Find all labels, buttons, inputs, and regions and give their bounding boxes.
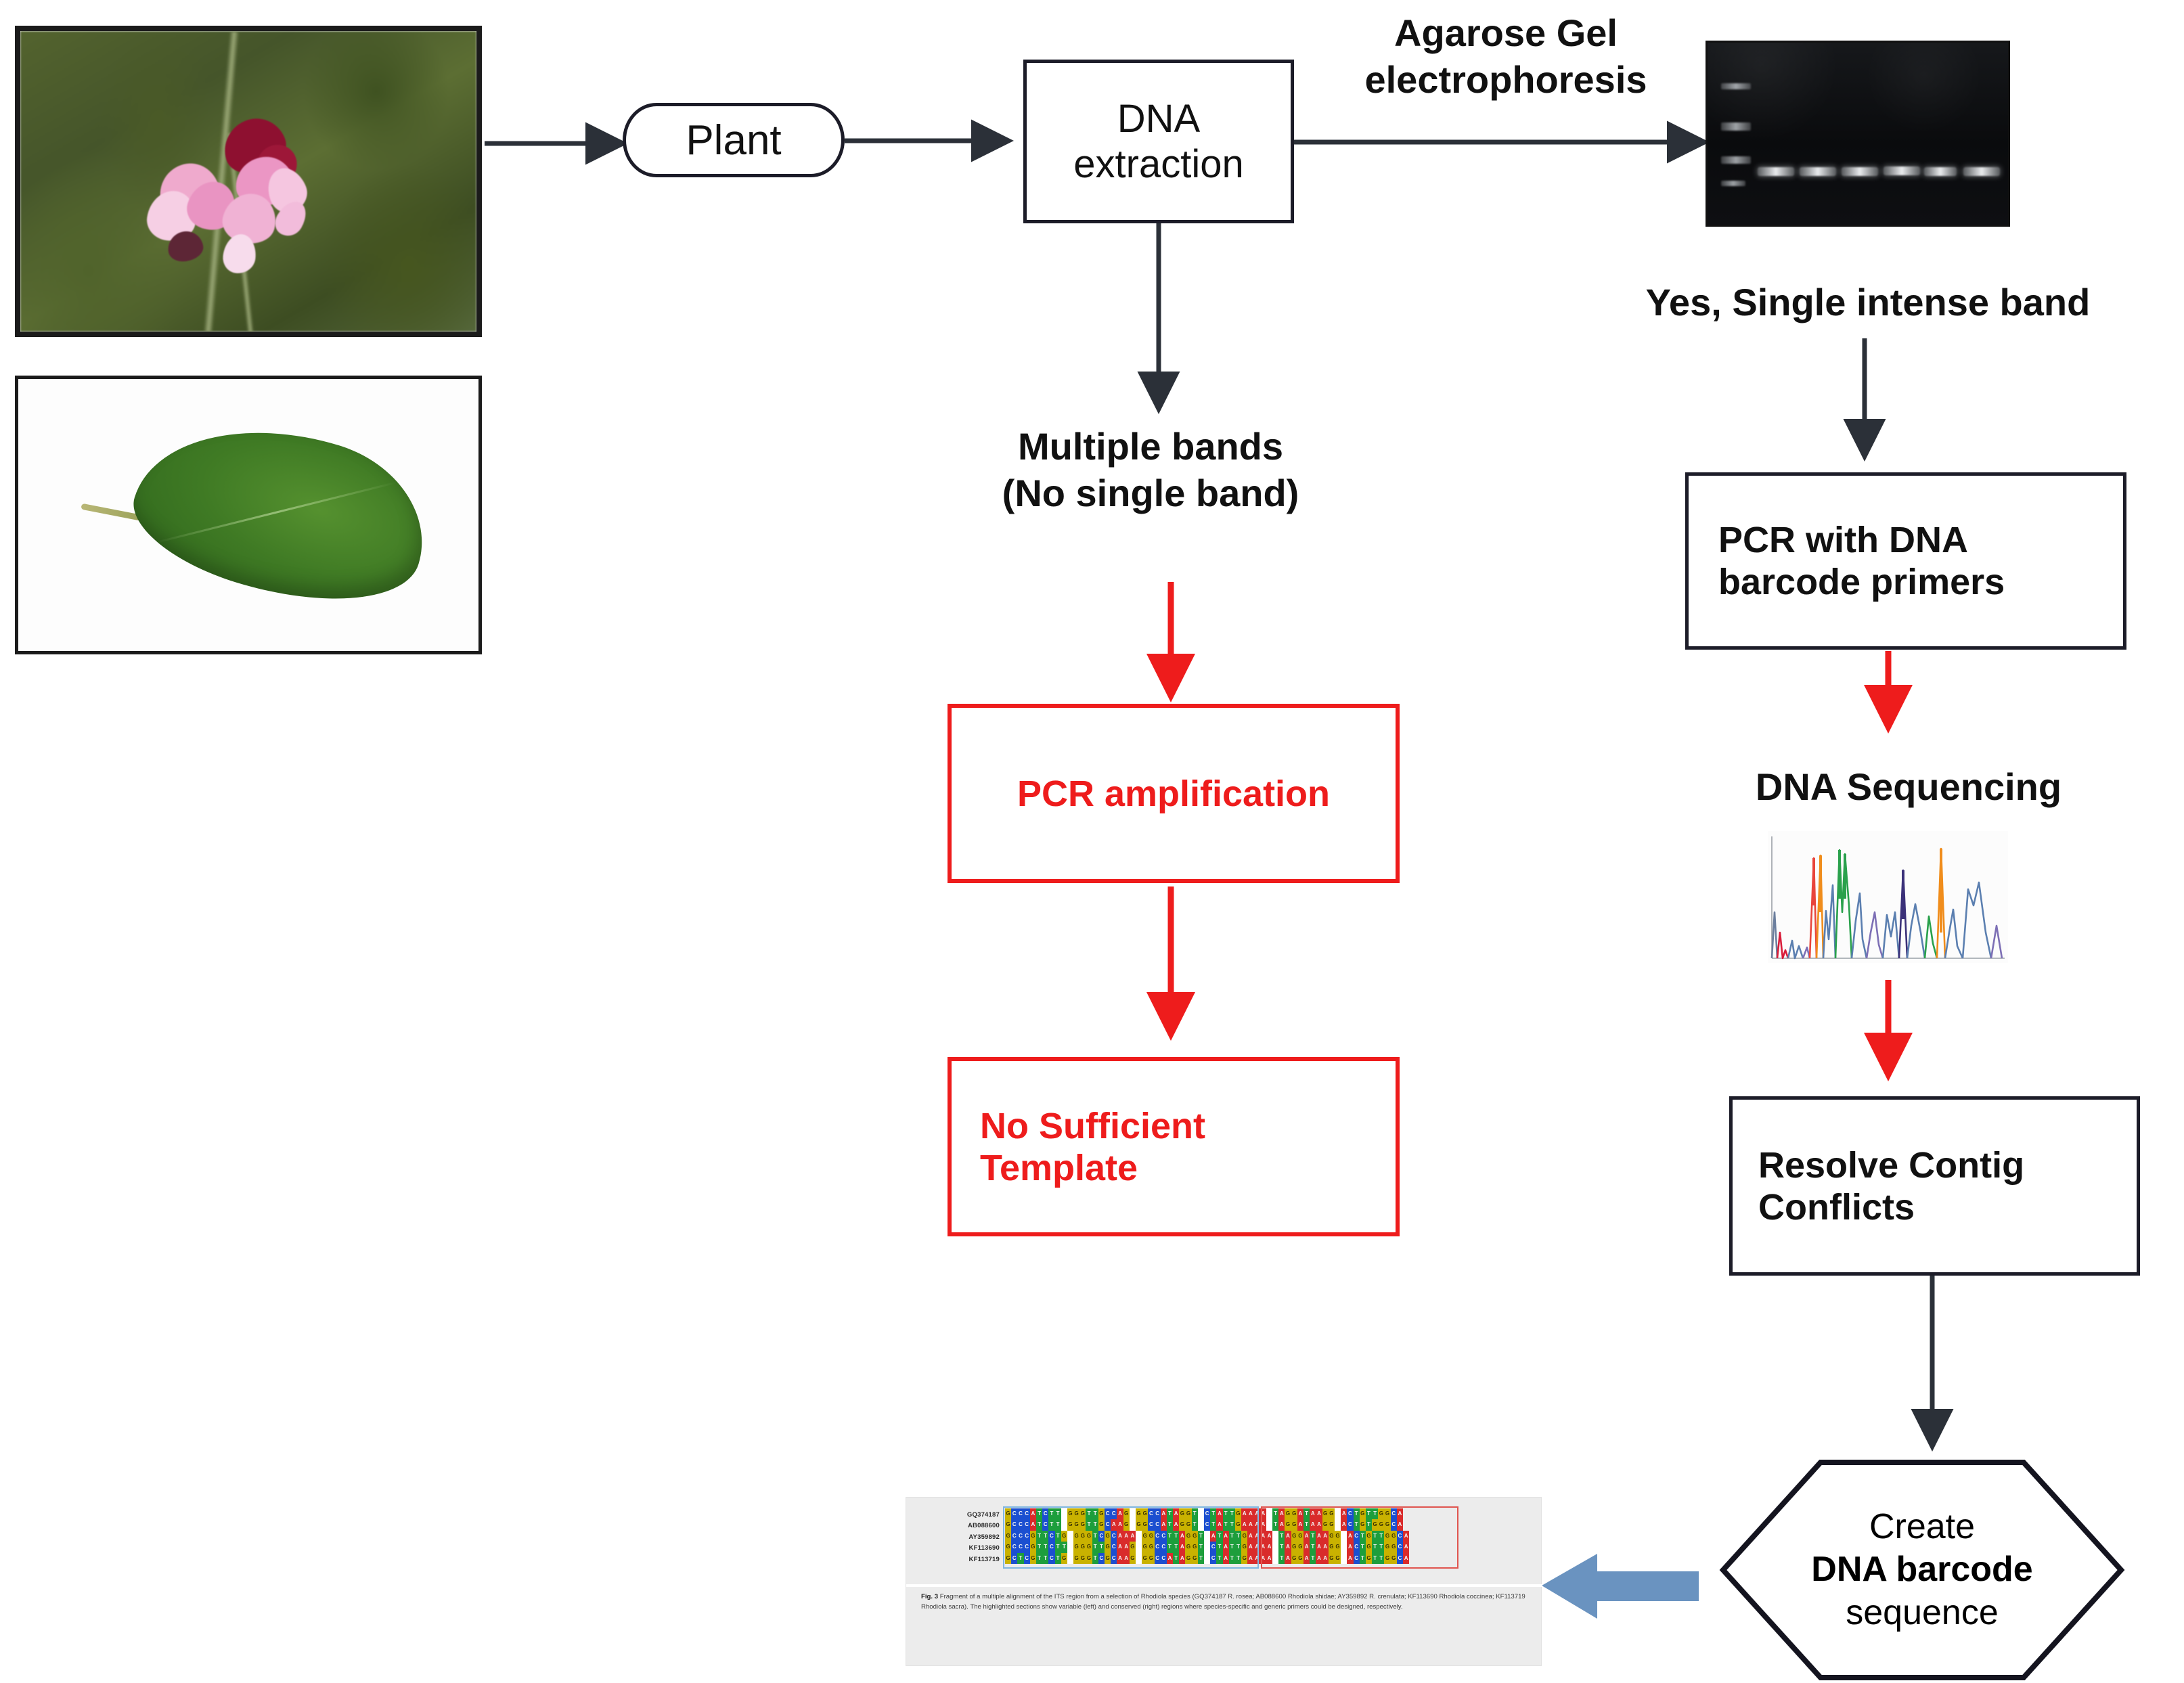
alignment-base-g: G [1366, 1542, 1372, 1552]
alignment-base-gap [1061, 1519, 1067, 1530]
alignment-base-g: G [1148, 1542, 1154, 1552]
alignment-base-g: G [1130, 1542, 1136, 1552]
alignment-base-g: G [1366, 1531, 1372, 1542]
alignment-base-a: A [1266, 1542, 1272, 1552]
alignment-base-t: T [1092, 1542, 1098, 1552]
alignment-base-g: G [1030, 1542, 1036, 1552]
alignment-caption-bold: Fig. 3 [921, 1593, 938, 1600]
alignment-base-g: G [1142, 1542, 1148, 1552]
alignment-row: GCCCGTTCTTGGGTTGCAAGGGCCTTAGGTCTATTGAAAA… [1005, 1542, 1409, 1552]
alignment-base-g: G [1335, 1542, 1341, 1552]
alignment-base-t: T [1055, 1553, 1061, 1564]
alignment-caption-text: Fragment of a multiple alignment of the … [921, 1593, 1525, 1611]
alignment-base-a: A [1241, 1519, 1247, 1530]
alignment-base-g: G [1179, 1519, 1185, 1530]
alignment-base-g: G [1130, 1553, 1136, 1564]
alignment-accession-0: GQ374187 [925, 1510, 1000, 1521]
alignment-base-t: T [1303, 1519, 1310, 1530]
alignment-base-gap [1130, 1508, 1136, 1519]
alignment-base-c: C [1161, 1531, 1167, 1542]
alignment-base-g: G [1335, 1553, 1341, 1564]
alignment-base-a: A [1117, 1531, 1123, 1542]
alignment-base-a: A [1316, 1542, 1322, 1552]
alignment-row: GCCCGTTCTGGGGTCGCAAAGGCCTTAGGTATATTGAAAA… [1005, 1531, 1409, 1542]
gel-ladder-band-3 [1721, 156, 1751, 164]
alignment-base-c: C [1148, 1508, 1154, 1519]
alignment-base-t: T [1216, 1553, 1222, 1564]
alignment-base-t: T [1272, 1519, 1278, 1530]
alignment-row: GCCCATCTTGGGTTGCAAGGGCCATAGGTCTATTGAAAAT… [1005, 1519, 1409, 1530]
alignment-base-t: T [1278, 1542, 1285, 1552]
alignment-base-gap [1067, 1553, 1073, 1564]
alignment-figure: GQ374187 AB088600 AY359892 KF113690 KF11… [906, 1497, 1542, 1666]
alignment-base-a: A [1179, 1531, 1185, 1542]
alignment-base-c: C [1024, 1531, 1030, 1542]
plant-leaf-photo [15, 376, 482, 654]
alignment-base-g: G [1241, 1542, 1247, 1552]
alignment-base-c: C [1011, 1531, 1017, 1542]
alignment-base-g: G [1073, 1531, 1079, 1542]
node-dna-extraction-line1: DNA [1117, 96, 1200, 141]
alignment-row: GCCCATCTTGGGTTGCCAGGGCCATAGGTCTATTGAAAAT… [1005, 1508, 1409, 1519]
alignment-base-c: C [1024, 1508, 1030, 1519]
alignment-base-a: A [1403, 1542, 1409, 1552]
alignment-base-g: G [1079, 1519, 1086, 1530]
alignment-base-g: G [1335, 1531, 1341, 1542]
node-pcr-amplification[interactable]: PCR amplification [948, 704, 1400, 883]
alignment-base-g: G [1136, 1519, 1142, 1530]
alignment-base-t: T [1198, 1542, 1204, 1552]
alignment-base-c: C [1105, 1519, 1111, 1530]
alignment-base-c: C [1397, 1553, 1403, 1564]
alignment-base-g: G [1067, 1508, 1073, 1519]
arrow-resolve-to-create-barcode [1919, 1276, 1946, 1462]
alignment-base-c: C [1111, 1531, 1117, 1542]
alignment-base-g: G [1105, 1553, 1111, 1564]
alignment-base-g: G [1185, 1508, 1191, 1519]
alignment-base-g: G [1005, 1519, 1011, 1530]
alignment-base-g: G [1192, 1542, 1198, 1552]
alignment-base-a: A [1260, 1519, 1266, 1530]
alignment-base-g: G [1067, 1519, 1073, 1530]
alignment-base-t: T [1036, 1542, 1042, 1552]
alignment-base-g: G [1061, 1531, 1067, 1542]
gel-sample-band-4 [1884, 166, 1920, 175]
alignment-base-g: G [1185, 1531, 1191, 1542]
alignment-base-t: T [1378, 1553, 1384, 1564]
alignment-base-t: T [1229, 1519, 1235, 1530]
alignment-base-g: G [1291, 1542, 1297, 1552]
alignment-base-a: A [1278, 1508, 1285, 1519]
alignment-base-gap [1130, 1519, 1136, 1530]
alignment-base-a: A [1316, 1519, 1322, 1530]
alignment-base-a: A [1285, 1531, 1291, 1542]
alignment-base-g: G [1192, 1531, 1198, 1542]
alignment-base-g: G [1360, 1519, 1366, 1530]
alignment-base-t: T [1229, 1531, 1235, 1542]
alignment-base-t: T [1223, 1508, 1229, 1519]
alignment-base-gap [1335, 1508, 1341, 1519]
alignment-base-a: A [1247, 1542, 1253, 1552]
alignment-base-t: T [1055, 1519, 1061, 1530]
alignment-base-a: A [1161, 1508, 1167, 1519]
alignment-base-a: A [1341, 1519, 1347, 1530]
alignment-base-t: T [1210, 1519, 1216, 1530]
alignment-base-gap [1067, 1531, 1073, 1542]
alignment-base-c: C [1024, 1542, 1030, 1552]
gel-sample-band-5 [1924, 167, 1957, 176]
alignment-base-a: A [1341, 1508, 1347, 1519]
alignment-base-t: T [1229, 1508, 1235, 1519]
alignment-base-t: T [1354, 1508, 1360, 1519]
alignment-base-t: T [1223, 1519, 1229, 1530]
alignment-base-g: G [1123, 1519, 1130, 1530]
alignment-base-g: G [1098, 1519, 1105, 1530]
alignment-base-gap [1341, 1542, 1347, 1552]
gel-sample-band-1 [1758, 167, 1794, 176]
alignment-base-gap [1272, 1553, 1278, 1564]
alignment-base-g: G [1105, 1542, 1111, 1552]
alignment-base-g: G [1005, 1542, 1011, 1552]
alignment-base-t: T [1086, 1508, 1092, 1519]
alignment-base-g: G [1329, 1542, 1335, 1552]
alignment-base-a: A [1247, 1553, 1253, 1564]
alignment-base-gap [1136, 1542, 1142, 1552]
arrow-multiple-to-pcr-amplification [1157, 582, 1184, 711]
alignment-base-t: T [1042, 1542, 1048, 1552]
alignment-base-t: T [1086, 1519, 1092, 1530]
node-plant[interactable]: Plant [623, 103, 845, 177]
node-no-sufficient-template-line1: No Sufficient [980, 1105, 1205, 1147]
alignment-base-c: C [1011, 1508, 1017, 1519]
alignment-base-a: A [1247, 1519, 1253, 1530]
alignment-base-t: T [1278, 1553, 1285, 1564]
alignment-base-g: G [1391, 1531, 1397, 1542]
alignment-base-t: T [1278, 1531, 1285, 1542]
alignment-base-gap [1335, 1519, 1341, 1530]
alignment-base-gap [1198, 1519, 1204, 1530]
alignment-base-t: T [1198, 1553, 1204, 1564]
alignment-base-g: G [1079, 1553, 1086, 1564]
alignment-base-c: C [1111, 1553, 1117, 1564]
alignment-base-t: T [1235, 1553, 1241, 1564]
alignment-base-a: A [1260, 1508, 1266, 1519]
alignment-base-a: A [1111, 1519, 1117, 1530]
node-pcr-primers-line1: PCR with DNA [1718, 519, 1968, 561]
node-resolve-contig-line1: Resolve Contig [1758, 1144, 2024, 1186]
alignment-base-t: T [1303, 1508, 1310, 1519]
alignment-base-t: T [1055, 1542, 1061, 1552]
alignment-base-a: A [1117, 1542, 1123, 1552]
alignment-base-a: A [1030, 1519, 1036, 1530]
gel-background [1708, 43, 2008, 225]
alignment-base-c: C [1155, 1531, 1161, 1542]
alignment-base-a: A [1303, 1542, 1310, 1552]
alignment-base-t: T [1378, 1542, 1384, 1552]
alignment-base-a: A [1297, 1519, 1303, 1530]
alignment-base-a: A [1241, 1508, 1247, 1519]
alignment-base-a: A [1322, 1542, 1329, 1552]
alignment-base-gap [1204, 1553, 1210, 1564]
alignment-base-g: G [1384, 1508, 1390, 1519]
alignment-base-c: C [1354, 1531, 1360, 1542]
alignment-base-a: A [1260, 1542, 1266, 1552]
arrow-pcr-amp-to-no-template [1157, 887, 1184, 1049]
alignment-base-a: A [1297, 1508, 1303, 1519]
node-create-dna-barcode-sequence[interactable]: Create DNA barcode sequence [1719, 1458, 2125, 1682]
create-barcode-text: Create DNA barcode sequence [1811, 1506, 2032, 1634]
alignment-base-g: G [1005, 1508, 1011, 1519]
alignment-base-t: T [1310, 1553, 1316, 1564]
alignment-base-gap [1341, 1531, 1347, 1542]
arrow-primers-to-sequencing [1875, 651, 1902, 740]
alignment-base-a: A [1316, 1553, 1322, 1564]
alignment-base-t: T [1372, 1553, 1378, 1564]
create-barcode-line2: DNA barcode [1811, 1548, 2032, 1591]
alignment-base-t: T [1173, 1531, 1179, 1542]
alignment-base-t: T [1042, 1553, 1048, 1564]
multiple-bands-line1: Multiple bands [941, 423, 1360, 470]
alignment-base-a: A [1347, 1531, 1353, 1542]
alignment-base-a: A [1260, 1553, 1266, 1564]
alignment-base-t: T [1366, 1508, 1372, 1519]
alignment-base-g: G [1384, 1519, 1390, 1530]
alignment-base-g: G [1291, 1531, 1297, 1542]
node-resolve-contig-conflicts[interactable]: Resolve Contig Conflicts [1729, 1096, 2140, 1276]
alignment-base-t: T [1372, 1542, 1378, 1552]
alignment-base-a: A [1210, 1531, 1216, 1542]
alignment-base-g: G [1329, 1553, 1335, 1564]
alignment-base-c: C [1397, 1531, 1403, 1542]
alignment-base-g: G [1098, 1508, 1105, 1519]
alignment-base-t: T [1378, 1531, 1384, 1542]
alignment-base-c: C [1148, 1519, 1154, 1530]
alignment-base-t: T [1092, 1508, 1098, 1519]
alignment-base-g: G [1241, 1553, 1247, 1564]
alignment-accession-2: AY359892 [925, 1532, 1000, 1543]
alignment-base-t: T [1167, 1519, 1173, 1530]
alignment-base-a: A [1216, 1508, 1222, 1519]
alignment-base-gap [1266, 1519, 1272, 1530]
alignment-base-g: G [1136, 1508, 1142, 1519]
alignment-base-gap [1136, 1531, 1142, 1542]
alignment-base-g: G [1142, 1531, 1148, 1542]
arrow-sequencing-to-resolve-contig [1875, 980, 1902, 1088]
label-agarose-gel-electrophoresis: Agarose Gel electrophoresis [1316, 9, 1695, 104]
alignment-base-c: C [1347, 1519, 1353, 1530]
alignment-accession-4: KF113719 [925, 1554, 1000, 1565]
alignment-base-a: A [1123, 1531, 1130, 1542]
alignment-base-a: A [1117, 1519, 1123, 1530]
node-pcr-with-barcode-primers[interactable]: PCR with DNA barcode primers [1685, 472, 2126, 650]
alignment-base-c: C [1011, 1553, 1017, 1564]
alignment-sequence-grid: GCCCATCTTGGGTTGCCAGGGCCATAGGTCTATTGAAAAT… [1005, 1508, 1409, 1564]
alignment-base-a: A [1223, 1531, 1229, 1542]
alignment-base-g: G [1086, 1542, 1092, 1552]
alignment-base-t: T [1310, 1531, 1316, 1542]
alignment-base-g: G [1142, 1508, 1148, 1519]
alignment-accession-labels: GQ374187 AB088600 AY359892 KF113690 KF11… [925, 1510, 1000, 1565]
alignment-base-a: A [1278, 1519, 1285, 1530]
alignment-base-g: G [1192, 1553, 1198, 1564]
alignment-base-c: C [1204, 1519, 1210, 1530]
alignment-base-c: C [1204, 1508, 1210, 1519]
alignment-base-a: A [1179, 1553, 1185, 1564]
alignment-base-t: T [1173, 1553, 1179, 1564]
alignment-base-g: G [1291, 1508, 1297, 1519]
alignment-base-a: A [1247, 1531, 1253, 1542]
alignment-base-t: T [1092, 1519, 1098, 1530]
alignment-base-g: G [1366, 1553, 1372, 1564]
alignment-base-a: A [1403, 1553, 1409, 1564]
alignment-base-c: C [1210, 1542, 1216, 1552]
alignment-base-g: G [1241, 1531, 1247, 1542]
alignment-base-t: T [1167, 1531, 1173, 1542]
alignment-base-c: C [1354, 1542, 1360, 1552]
alignment-base-c: C [1397, 1542, 1403, 1552]
alignment-base-a: A [1179, 1542, 1185, 1552]
alignment-base-t: T [1036, 1508, 1042, 1519]
alignment-base-a: A [1322, 1553, 1329, 1564]
alignment-base-c: C [1111, 1542, 1117, 1552]
alignment-base-a: A [1117, 1553, 1123, 1564]
node-pcr-primers-line2: barcode primers [1718, 561, 2005, 603]
alignment-base-g: G [1322, 1519, 1329, 1530]
alignment-base-t: T [1036, 1519, 1042, 1530]
agarose-label-line1: Agarose Gel [1316, 9, 1695, 56]
alignment-base-g: G [1086, 1531, 1092, 1542]
alignment-base-t: T [1036, 1531, 1042, 1542]
alignment-base-a: A [1316, 1531, 1322, 1542]
alignment-base-a: A [1310, 1508, 1316, 1519]
alignment-base-a: A [1397, 1508, 1403, 1519]
alignment-base-a: A [1403, 1531, 1409, 1542]
alignment-base-c: C [1024, 1553, 1030, 1564]
alignment-base-c: C [1042, 1508, 1048, 1519]
alignment-base-g: G [1384, 1553, 1390, 1564]
alignment-base-g: G [1073, 1542, 1079, 1552]
alignment-base-g: G [1185, 1519, 1191, 1530]
alignment-caption: Fig. 3 Fragment of a multiple alignment … [921, 1592, 1530, 1612]
alignment-base-a: A [1266, 1553, 1272, 1564]
alignment-base-t: T [1042, 1531, 1048, 1542]
alignment-base-g: G [1005, 1531, 1011, 1542]
alignment-base-t: T [1216, 1542, 1222, 1552]
gel-ladder-band-4 [1721, 181, 1745, 186]
arrow-plant-to-extraction [845, 127, 1021, 154]
alignment-base-a: A [1161, 1519, 1167, 1530]
alignment-base-g: G [1073, 1508, 1079, 1519]
alignment-base-c: C [1111, 1508, 1117, 1519]
alignment-base-g: G [1148, 1531, 1154, 1542]
alignment-base-g: G [1360, 1508, 1366, 1519]
alignment-base-a: A [1347, 1542, 1353, 1552]
alignment-base-g: G [1329, 1531, 1335, 1542]
alignment-base-t: T [1098, 1542, 1105, 1552]
arrow-flower-to-plant [485, 130, 633, 157]
alignment-base-a: A [1254, 1531, 1260, 1542]
alignment-base-g: G [1329, 1519, 1335, 1530]
alignment-base-g: G [1378, 1519, 1384, 1530]
alignment-accession-1: AB088600 [925, 1521, 1000, 1531]
alignment-base-t: T [1017, 1553, 1023, 1564]
alignment-base-a: A [1285, 1542, 1291, 1552]
alignment-base-gap [1204, 1531, 1210, 1542]
alignment-base-c: C [1024, 1519, 1030, 1530]
alignment-base-t: T [1360, 1553, 1366, 1564]
alignment-base-g: G [1073, 1519, 1079, 1530]
alignment-base-t: T [1354, 1519, 1360, 1530]
alignment-base-g: G [1185, 1553, 1191, 1564]
alignment-base-g: G [1142, 1519, 1148, 1530]
alignment-base-t: T [1360, 1542, 1366, 1552]
alignment-base-g: G [1105, 1531, 1111, 1542]
alignment-base-c: C [1391, 1519, 1397, 1530]
alignment-base-t: T [1310, 1542, 1316, 1552]
alignment-base-g: G [1148, 1553, 1154, 1564]
alignment-base-g: G [1061, 1553, 1067, 1564]
alignment-base-t: T [1036, 1553, 1042, 1564]
alignment-base-g: G [1297, 1553, 1303, 1564]
alignment-base-gap [1198, 1508, 1204, 1519]
alignment-base-t: T [1055, 1531, 1061, 1542]
alignment-base-t: T [1048, 1508, 1054, 1519]
alignment-base-g: G [1291, 1519, 1297, 1530]
alignment-base-a: A [1316, 1508, 1322, 1519]
alignment-base-t: T [1272, 1508, 1278, 1519]
agarose-gel-photo [1706, 41, 2010, 227]
alignment-base-gap [1067, 1542, 1073, 1552]
alignment-base-g: G [1030, 1531, 1036, 1542]
alignment-base-a: A [1285, 1553, 1291, 1564]
alignment-base-c: C [1042, 1519, 1048, 1530]
alignment-base-t: T [1235, 1531, 1241, 1542]
alignment-base-g: G [1372, 1519, 1378, 1530]
node-dna-extraction-line2: extraction [1073, 141, 1243, 187]
alignment-base-g: G [1297, 1542, 1303, 1552]
alignment-base-gap [1061, 1508, 1067, 1519]
alignment-base-g: G [1297, 1531, 1303, 1542]
alignment-base-g: G [1086, 1553, 1092, 1564]
alignment-base-g: G [1079, 1508, 1086, 1519]
node-resolve-contig-line2: Conflicts [1758, 1186, 1915, 1228]
alignment-base-gap [1272, 1542, 1278, 1552]
flowchart-canvas: Plant DNA extraction Agarose Gel electro… [0, 0, 2184, 1683]
plant-flower-photo [15, 26, 482, 337]
alignment-base-a: A [1173, 1508, 1179, 1519]
alignment-base-g: G [1073, 1553, 1079, 1564]
alignment-base-a: A [1254, 1553, 1260, 1564]
node-no-sufficient-template[interactable]: No Sufficient Template [948, 1057, 1400, 1236]
alignment-base-a: A [1254, 1542, 1260, 1552]
alignment-base-a: A [1310, 1519, 1316, 1530]
alignment-base-a: A [1130, 1531, 1136, 1542]
alignment-base-a: A [1216, 1519, 1222, 1530]
alignment-caption-divider [906, 1584, 1542, 1587]
alignment-base-gap [1266, 1508, 1272, 1519]
alignment-base-t: T [1216, 1531, 1222, 1542]
create-barcode-line3: sequence [1811, 1592, 2032, 1634]
alignment-base-a: A [1030, 1508, 1036, 1519]
alignment-base-c: C [1210, 1553, 1216, 1564]
alignment-base-g: G [1030, 1553, 1036, 1564]
arrow-create-barcode-to-alignment [1542, 1548, 1718, 1630]
alignment-base-t: T [1360, 1531, 1366, 1542]
node-dna-extraction[interactable]: DNA extraction [1023, 60, 1294, 223]
alignment-base-t: T [1192, 1508, 1198, 1519]
alignment-base-g: G [1291, 1553, 1297, 1564]
alignment-base-a: A [1347, 1553, 1353, 1564]
